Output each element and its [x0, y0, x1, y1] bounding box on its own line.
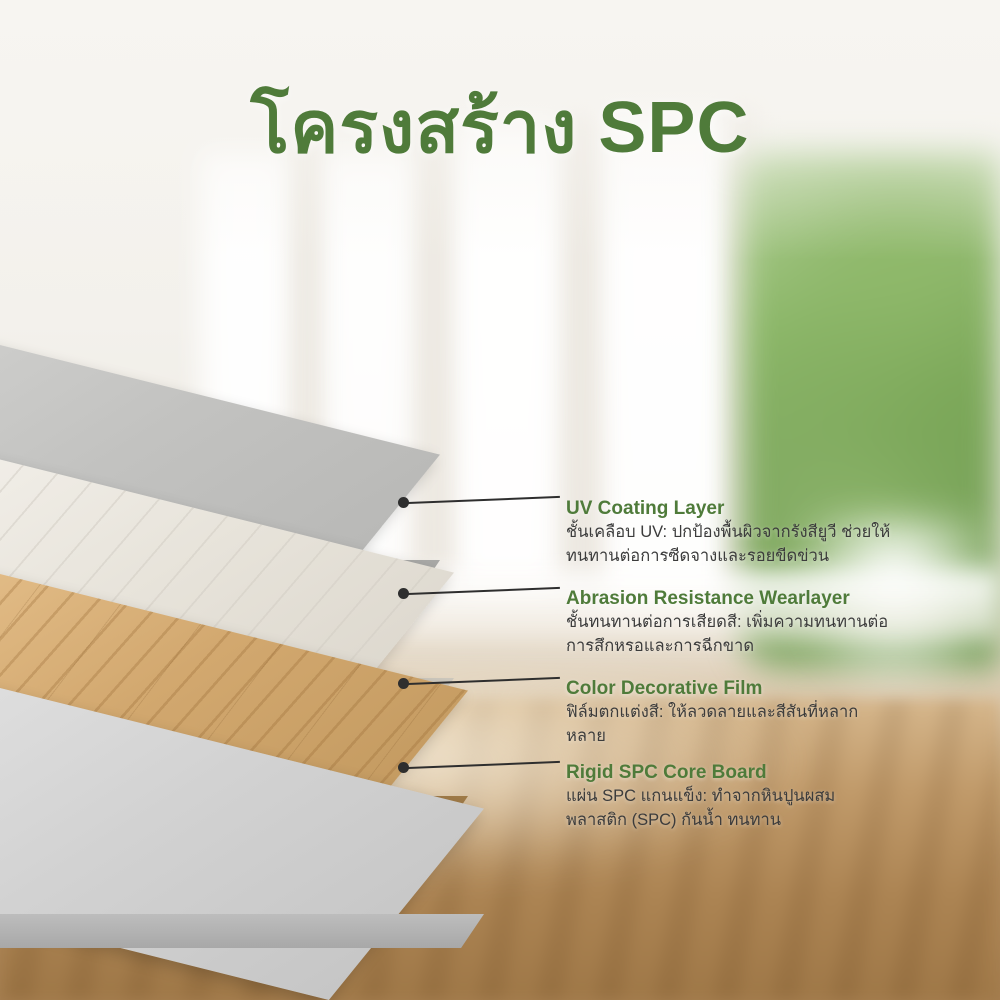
spc-structure-infographic: โครงสร้าง SPC UV Coating Layer ชั้นเคลือ… — [0, 0, 1000, 1000]
callout-description: ฟิล์มตกแต่งสี: ให้ลวดลายและสีสันที่หลากห… — [566, 701, 896, 749]
callout-title: Abrasion Resistance Wearlayer — [566, 588, 850, 610]
callout-description: ชั้นทนทานต่อการเสียดสี: เพิ่มความทนทานต่… — [566, 611, 896, 659]
layer-spc-core-edge — [0, 914, 484, 948]
callout-description: ชั้นเคลือบ UV: ปกป้องพื้นผิวจากรังสียูวี… — [566, 521, 896, 569]
callout-title: Rigid SPC Core Board — [566, 762, 767, 784]
callout-description: แผ่น SPC แกนแข็ง: ทำจากหินปูนผสมพลาสติก … — [566, 785, 896, 833]
callout-title: Color Decorative Film — [566, 678, 762, 700]
callout-title: UV Coating Layer — [566, 498, 724, 520]
exploded-layer-stack — [0, 330, 580, 890]
page-title: โครงสร้าง SPC — [0, 92, 1000, 164]
